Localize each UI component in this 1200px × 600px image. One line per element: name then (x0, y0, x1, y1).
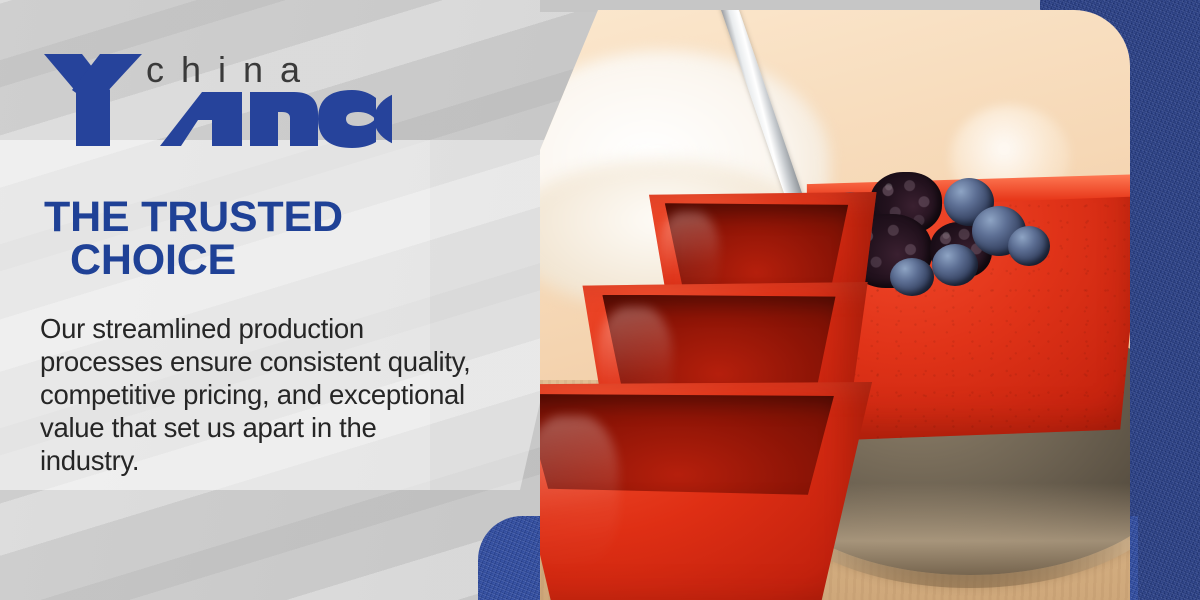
promo-banner: china (0, 0, 1200, 600)
product-photo (540, 10, 1130, 600)
logo-y-mark (44, 54, 142, 146)
logo-wordmark (160, 90, 392, 148)
yanco-china-logo[interactable]: china (42, 46, 392, 150)
red-square-bowl-large (540, 382, 880, 600)
page-title: THE TRUSTED CHOICE (44, 196, 474, 281)
logo-svg: china (42, 46, 392, 150)
logo-kicker-text: china (146, 49, 317, 90)
headline-line-1: THE TRUSTED (44, 193, 343, 241)
blueberry (932, 244, 978, 286)
headline-line-2: CHOICE (44, 239, 474, 282)
nested-bowl-stack (540, 186, 932, 600)
left-content-panel: china (0, 0, 560, 600)
body-copy: Our streamlined production processes ens… (40, 312, 478, 477)
blueberry (1008, 226, 1050, 266)
